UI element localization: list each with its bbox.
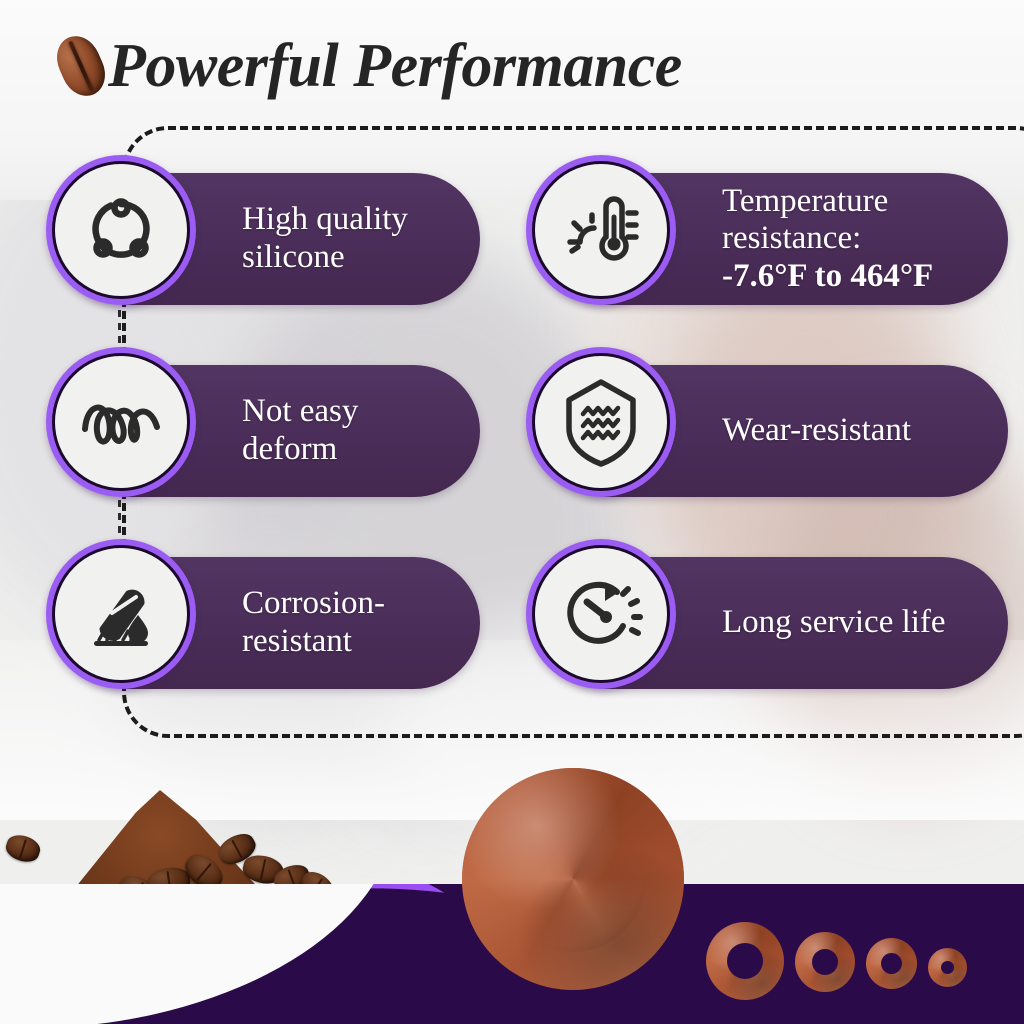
feature-item-wear-resistant[interactable]: Wear-resistant xyxy=(480,347,1008,517)
feature-row: Corrosion- resistant xyxy=(0,539,1024,709)
feature-label-line: Temperature xyxy=(722,183,933,221)
feature-badge[interactable] xyxy=(46,539,196,689)
badge-connector xyxy=(118,310,121,344)
feature-column-right: Temperature resistance: -7.6°F to 464°F xyxy=(480,155,1008,325)
feature-label: High quality silicone xyxy=(242,201,408,276)
feature-label-line: resistance: xyxy=(722,220,933,258)
feature-badge[interactable] xyxy=(46,155,196,305)
o-ring-size-1 xyxy=(706,922,784,1000)
feature-label: Long service life xyxy=(722,604,946,642)
feature-label-line: -7.6°F to 464°F xyxy=(722,258,933,296)
shield-waves-icon xyxy=(532,353,670,491)
o-ring-size-4 xyxy=(928,948,967,987)
feature-item-temperature-resistance[interactable]: Temperature resistance: -7.6°F to 464°F xyxy=(480,155,1008,325)
feature-column-left: Corrosion- resistant xyxy=(0,539,480,709)
feature-column-left: High quality silicone xyxy=(0,155,480,325)
feature-item-corrosion-resistant[interactable]: Corrosion- resistant xyxy=(0,539,480,709)
feature-column-right: Wear-resistant xyxy=(480,347,1008,517)
feature-badge[interactable] xyxy=(526,539,676,689)
feature-column-left: Not easy deform xyxy=(0,347,480,517)
coffee-bean-icon xyxy=(49,29,113,103)
feature-label-line: Long service life xyxy=(722,604,946,642)
o-ring-size-3 xyxy=(866,938,917,989)
feature-label-line: resistant xyxy=(242,623,385,661)
feature-label: Corrosion- resistant xyxy=(242,585,385,660)
recycle-arrows-icon xyxy=(52,161,190,299)
feature-label-line: High quality xyxy=(242,201,408,239)
elastic-wave-icon xyxy=(52,353,190,491)
feature-list: High quality silicone xyxy=(0,155,1024,731)
feature-label-line: Wear-resistant xyxy=(722,412,911,450)
page-title: Powerful Performance xyxy=(108,35,682,97)
feature-label: Not easy deform xyxy=(242,393,358,468)
feature-badge[interactable] xyxy=(526,155,676,305)
feature-row: High quality silicone xyxy=(0,155,1024,325)
infographic-stage: Powerful Performance High quality silico… xyxy=(0,0,1024,1024)
feature-label-line: deform xyxy=(242,431,358,469)
feature-badge[interactable] xyxy=(46,347,196,497)
feature-label-line: silicone xyxy=(242,239,408,277)
feature-label-line: Corrosion- xyxy=(242,585,385,623)
feature-item-high-quality-silicone[interactable]: High quality silicone xyxy=(0,155,480,325)
test-tube-drop-icon xyxy=(52,545,190,683)
feature-column-right: Long service life xyxy=(480,539,1008,709)
o-ring-size-2 xyxy=(795,932,855,992)
feature-item-not-easy-deform[interactable]: Not easy deform xyxy=(0,347,480,517)
speedometer-timer-icon xyxy=(532,545,670,683)
feature-label: Wear-resistant xyxy=(722,412,911,450)
coffee-bean xyxy=(3,831,43,865)
badge-connector xyxy=(118,500,121,534)
feature-label-line: Not easy xyxy=(242,393,358,431)
silicone-o-ring-large-top xyxy=(462,768,684,990)
thermometer-sun-icon xyxy=(532,161,670,299)
feature-row: Not easy deform xyxy=(0,347,1024,517)
feature-badge[interactable] xyxy=(526,347,676,497)
page-header: Powerful Performance xyxy=(0,18,1024,114)
feature-label: Temperature resistance: -7.6°F to 464°F xyxy=(722,183,933,296)
feature-item-long-service-life[interactable]: Long service life xyxy=(480,539,1008,709)
